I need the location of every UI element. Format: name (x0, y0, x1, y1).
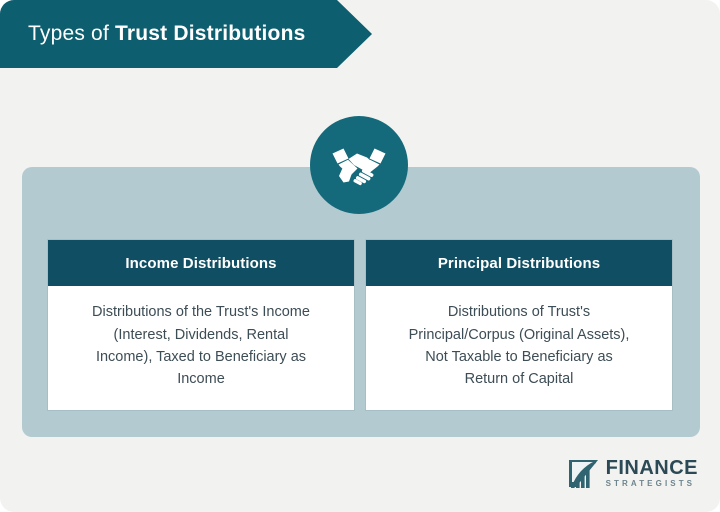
infographic-canvas: Types of Trust Distributions (0, 0, 720, 512)
page-title-bold: Trust Distributions (115, 22, 305, 45)
page-title-regular: Types of (28, 22, 115, 45)
card-body-income: Distributions of the Trust's Income (Int… (48, 286, 354, 410)
brand-name: FINANCE (606, 458, 698, 478)
brand-wordmark: FINANCE STRATEGISTS (606, 458, 698, 488)
page-title: Types of Trust Distributions (0, 22, 306, 46)
finance-strategists-mark-icon (567, 456, 601, 490)
cards-row: Income Distributions Distributions of th… (48, 240, 672, 410)
card-income-distributions: Income Distributions Distributions of th… (48, 240, 354, 410)
handshake-icon (310, 116, 408, 214)
card-body-principal: Distributions of Trust's Principal/Corpu… (366, 286, 672, 410)
card-principal-distributions: Principal Distributions Distributions of… (366, 240, 672, 410)
card-header-principal: Principal Distributions (366, 240, 672, 286)
header-banner: Types of Trust Distributions (0, 0, 372, 68)
card-header-income: Income Distributions (48, 240, 354, 286)
brand-logo: FINANCE STRATEGISTS (567, 456, 698, 490)
brand-subtitle: STRATEGISTS (606, 480, 698, 488)
